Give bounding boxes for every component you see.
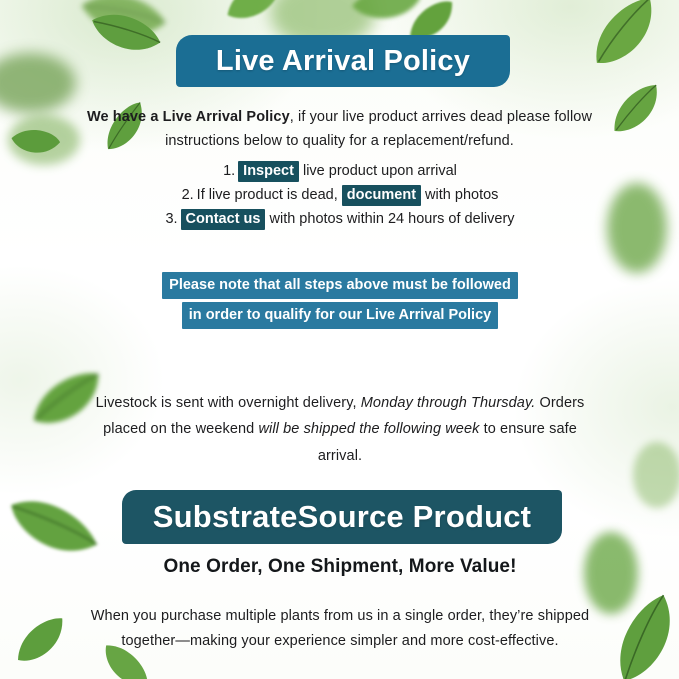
livestock-shipping-paragraph: Livestock is sent with overnight deliver… xyxy=(90,390,590,470)
leaf-icon xyxy=(217,0,292,31)
leaf-icon xyxy=(0,48,78,118)
step-post-text: with photos xyxy=(421,187,498,203)
leaf-icon xyxy=(628,440,679,510)
leaf-icon xyxy=(590,583,679,679)
step-number: 1. xyxy=(223,163,235,179)
shipping-text-part1: Livestock is sent with overnight deliver… xyxy=(96,395,361,411)
substrate-source-product-banner-title: SubstrateSource Product xyxy=(153,499,531,535)
leaf-icon xyxy=(573,0,677,81)
step-highlight: Contact us xyxy=(181,209,266,230)
leaf-icon xyxy=(346,0,425,34)
value-paragraph: When you purchase multiple plants from u… xyxy=(78,604,602,656)
leaf-icon xyxy=(4,609,78,674)
live-arrival-steps-list: 1.Inspect live product upon arrival 2.If… xyxy=(60,163,620,235)
policy-note-line: Please note that all steps above must be… xyxy=(162,272,518,299)
policy-note-line: in order to qualify for our Live Arrival… xyxy=(182,302,498,329)
list-item: 3.Contact us with photos within 24 hours… xyxy=(60,211,620,227)
substrate-source-product-banner: SubstrateSource Product xyxy=(122,490,562,544)
live-arrival-policy-banner: Live Arrival Policy xyxy=(176,35,510,87)
leaf-icon xyxy=(5,115,65,168)
step-highlight: document xyxy=(342,185,421,206)
list-item: 1.Inspect live product upon arrival xyxy=(60,163,620,179)
intro-paragraph: We have a Live Arrival Policy, if your l… xyxy=(68,105,611,155)
step-post-text: with photos within 24 hours of delivery xyxy=(265,211,514,227)
intro-paragraph-lead: We have a Live Arrival Policy xyxy=(87,109,290,125)
step-number: 2. xyxy=(182,187,194,203)
value-headline: One Order, One Shipment, More Value! xyxy=(60,556,620,578)
leaf-icon xyxy=(80,0,169,75)
leaf-icon xyxy=(70,0,177,62)
step-number: 3. xyxy=(165,211,177,227)
shipping-text-italic1: Monday through Thursday. xyxy=(361,395,536,411)
step-highlight: Inspect xyxy=(238,161,299,182)
live-arrival-policy-banner-title: Live Arrival Policy xyxy=(216,45,470,78)
list-item: 2.If live product is dead, document with… xyxy=(60,187,620,203)
shipping-text-italic2: will be shipped the following week xyxy=(258,421,479,437)
infographic-page: Live Arrival Policy We have a Live Arriv… xyxy=(0,0,679,679)
step-post-text: live product upon arrival xyxy=(299,163,457,179)
policy-note-block: Please note that all steps above must be… xyxy=(60,272,620,332)
step-pre-text: If live product is dead, xyxy=(197,187,342,203)
